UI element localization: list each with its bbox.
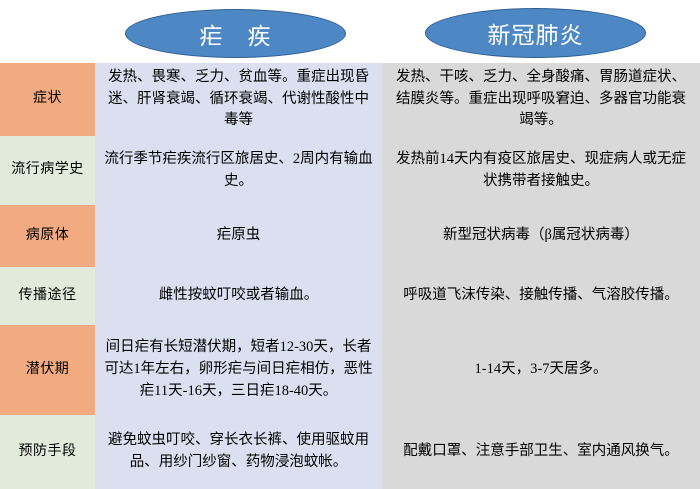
cell-covid-incubation: 1-14天，3-7天居多。 (382, 325, 700, 415)
header-title-covid: 新冠肺炎 (488, 16, 584, 50)
cell-malaria-transmission: 雌性按蚊叮咬或者输血。 (95, 267, 382, 325)
row-label-epidemiology: 流行病学史 (0, 136, 95, 205)
comparison-infographic: 疟 疾 新冠肺炎 症状 发热、畏寒、乏力、贫血等。重症出现昏迷、肝肾衰竭、循环衰… (0, 0, 700, 489)
cell-covid-prevention: 配戴口罩、注意手部卫生、室内通风换气。 (382, 415, 700, 489)
cell-covid-transmission: 呼吸道飞沫传染、接触传播、气溶胶传播。 (382, 267, 700, 325)
header-ellipse-malaria: 疟 疾 (125, 9, 346, 58)
table-row: 流行病学史 流行季节疟疾流行区旅居史、2周内有输血史。 发热前14天内有疫区旅居… (0, 136, 700, 205)
cell-covid-symptoms: 发热、干咳、乏力、全身酸痛、胃肠道症状、结膜炎等。重症出现呼吸窘迫、多器官功能衰… (382, 63, 700, 136)
cell-covid-pathogen: 新型冠状病毒（β属冠状病毒） (382, 205, 700, 267)
cell-malaria-epidemiology: 流行季节疟疾流行区旅居史、2周内有输血史。 (95, 136, 382, 205)
cell-malaria-incubation: 间日疟有长短潜伏期，短者12-30天，长者可达1年左右，卵形疟与间日疟相仿，恶性… (95, 325, 382, 415)
cell-malaria-prevention: 避免蚊虫叮咬、穿长衣长裤、使用驱蚊用品、用纱门纱窗、药物浸泡蚊帐。 (95, 415, 382, 489)
header-title-malaria: 疟 疾 (200, 17, 272, 51)
cell-malaria-pathogen: 疟原虫 (95, 205, 382, 267)
cell-covid-epidemiology: 发热前14天内有疫区旅居史、现症病人或无症状携带者接触史。 (382, 136, 700, 205)
table-row: 潜伏期 间日疟有长短潜伏期，短者12-30天，长者可达1年左右，卵形疟与间日疟相… (0, 325, 700, 415)
table-row: 预防手段 避免蚊虫叮咬、穿长衣长裤、使用驱蚊用品、用纱门纱窗、药物浸泡蚊帐。 配… (0, 415, 700, 489)
row-label-symptoms: 症状 (0, 63, 95, 136)
table-row: 传播途径 雌性按蚊叮咬或者输血。 呼吸道飞沫传染、接触传播、气溶胶传播。 (0, 267, 700, 325)
table-row: 病原体 疟原虫 新型冠状病毒（β属冠状病毒） (0, 205, 700, 267)
row-label-incubation: 潜伏期 (0, 325, 95, 415)
row-label-prevention: 预防手段 (0, 415, 95, 489)
row-label-transmission: 传播途径 (0, 267, 95, 325)
comparison-table: 症状 发热、畏寒、乏力、贫血等。重症出现昏迷、肝肾衰竭、循环衰竭、代谢性酸性中毒… (0, 63, 700, 489)
row-label-pathogen: 病原体 (0, 205, 95, 267)
table-row: 症状 发热、畏寒、乏力、贫血等。重症出现昏迷、肝肾衰竭、循环衰竭、代谢性酸性中毒… (0, 63, 700, 136)
header-ellipse-covid: 新冠肺炎 (425, 8, 646, 58)
cell-malaria-symptoms: 发热、畏寒、乏力、贫血等。重症出现昏迷、肝肾衰竭、循环衰竭、代谢性酸性中毒等 (95, 63, 382, 136)
